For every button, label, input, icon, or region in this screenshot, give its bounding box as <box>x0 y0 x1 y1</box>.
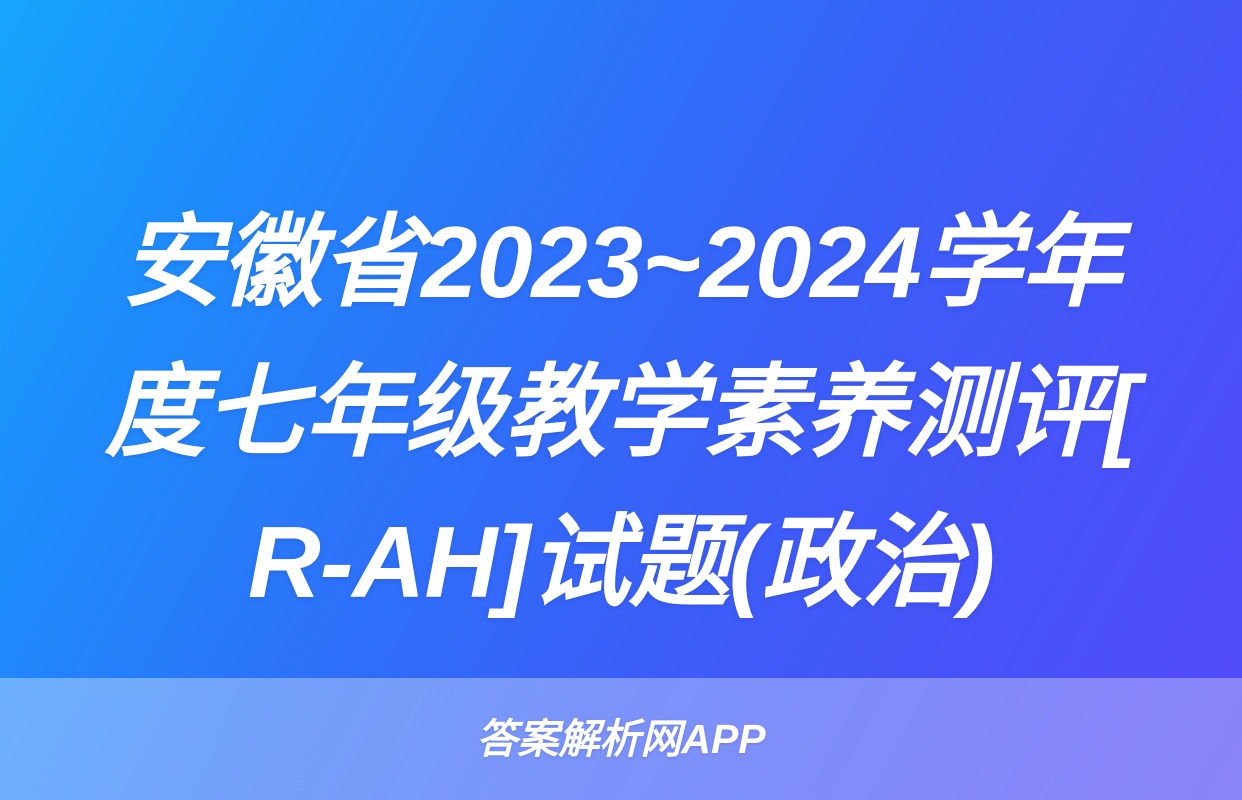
title-block: 安徽省2023~2024学年 度七年级教学素养测评[ R-AH]试题(政治) <box>0 188 1242 638</box>
title-card: 安徽省2023~2024学年 度七年级教学素养测评[ R-AH]试题(政治) 答… <box>0 0 1242 800</box>
watermark-band: 答案解析网APP <box>0 678 1242 800</box>
title-line-3: R-AH]试题(政治) <box>88 488 1154 638</box>
title-line-1: 安徽省2023~2024学年 <box>88 188 1154 338</box>
title-line-2: 度七年级教学素养测评[ <box>88 338 1154 488</box>
watermark-label: 答案解析网APP <box>476 719 765 760</box>
